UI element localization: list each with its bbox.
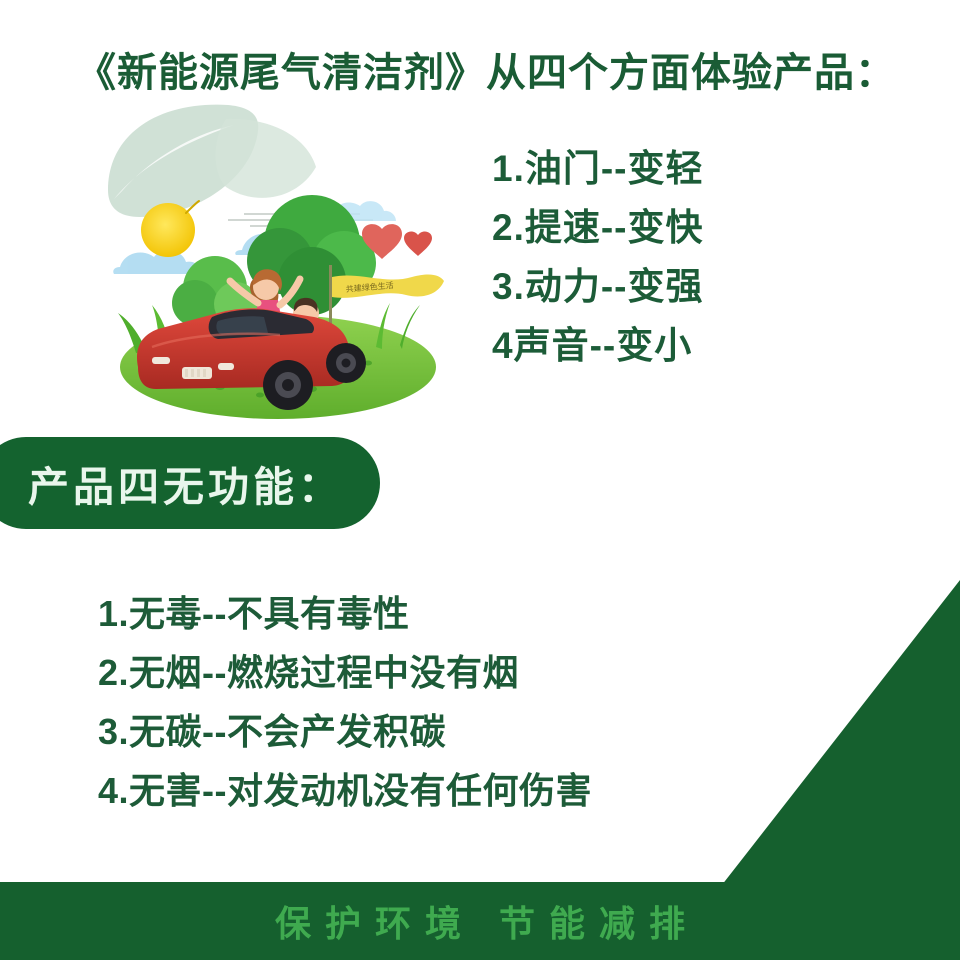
benefit-item: 2.提速--变快: [492, 209, 912, 246]
feature-item: 3.无碳--不会产发积碳: [98, 714, 798, 750]
section-banner: 产品四无功能：: [0, 437, 380, 529]
feature-item: 4.无害--对发动机没有任何伤害: [98, 773, 798, 809]
footer-band: 保护环境 节能减排: [0, 882, 960, 960]
benefit-item: 1.油门--变轻: [492, 150, 912, 187]
benefit-item: 4声音--变小: [492, 327, 912, 364]
illustration-svg: 共建绿色生活: [100, 95, 445, 420]
benefit-item: 3.动力--变强: [492, 268, 912, 305]
benefit-list: 1.油门--变轻 2.提速--变快 3.动力--变强 4声音--变小: [492, 150, 912, 386]
leaf-icon: [108, 105, 316, 217]
section-banner-label: 产品四无功能：: [28, 453, 343, 513]
feature-list: 1.无毒--不具有毒性 2.无烟--燃烧过程中没有烟 3.无碳--不会产发积碳 …: [98, 596, 798, 832]
footer-slogan: 保护环境 节能减排: [261, 895, 699, 947]
page-title: 《新能源尾气清洁剂》从四个方面体验产品：: [76, 50, 906, 96]
hero-illustration: 共建绿色生活: [100, 95, 445, 420]
car-wheel-rear: [326, 343, 366, 383]
feature-item: 2.无烟--燃烧过程中没有烟: [98, 655, 798, 691]
car-wheel-front: [263, 360, 313, 410]
feature-item: 1.无毒--不具有毒性: [98, 596, 798, 632]
poster-root: 《新能源尾气清洁剂》从四个方面体验产品：: [0, 0, 960, 960]
